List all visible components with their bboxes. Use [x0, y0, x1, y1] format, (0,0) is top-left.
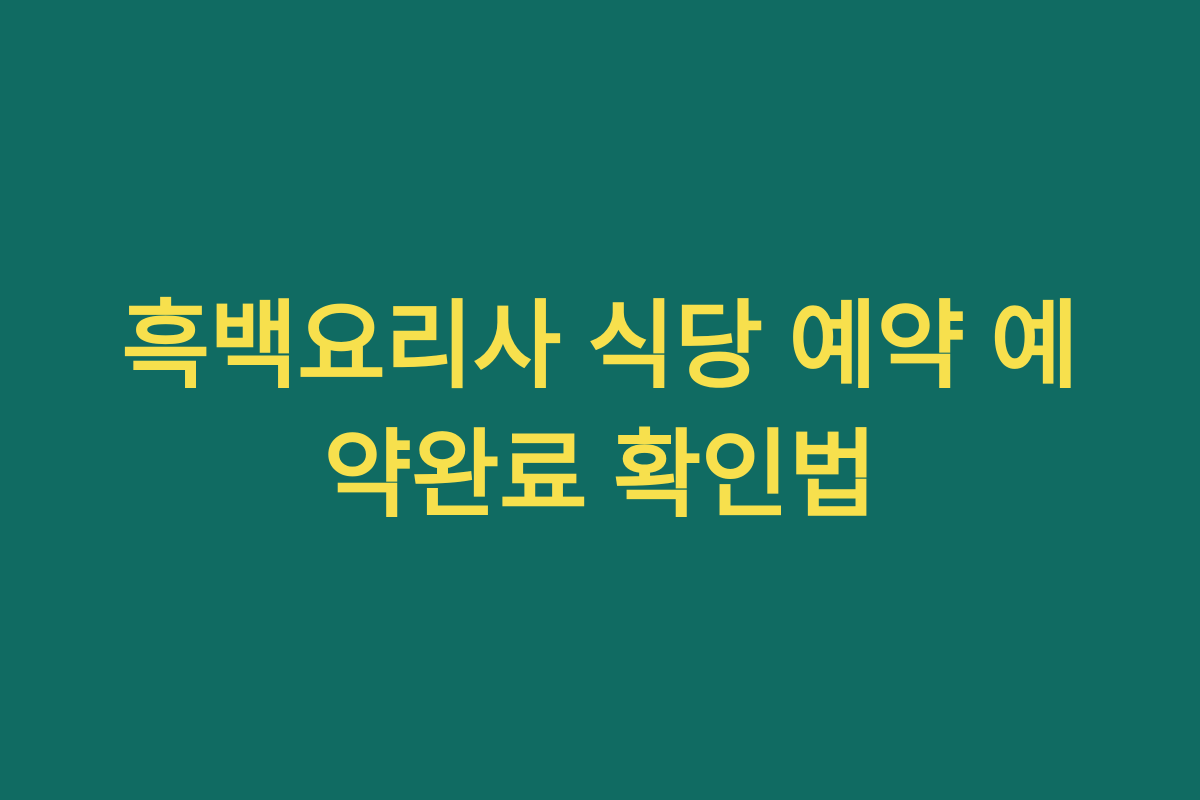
page-title: 흑백요리사 식당 예약 예약완료 확인법 [80, 283, 1120, 540]
title-card: 흑백요리사 식당 예약 예약완료 확인법 [0, 0, 1200, 800]
title-block: 흑백요리사 식당 예약 예약완료 확인법 [80, 283, 1120, 540]
